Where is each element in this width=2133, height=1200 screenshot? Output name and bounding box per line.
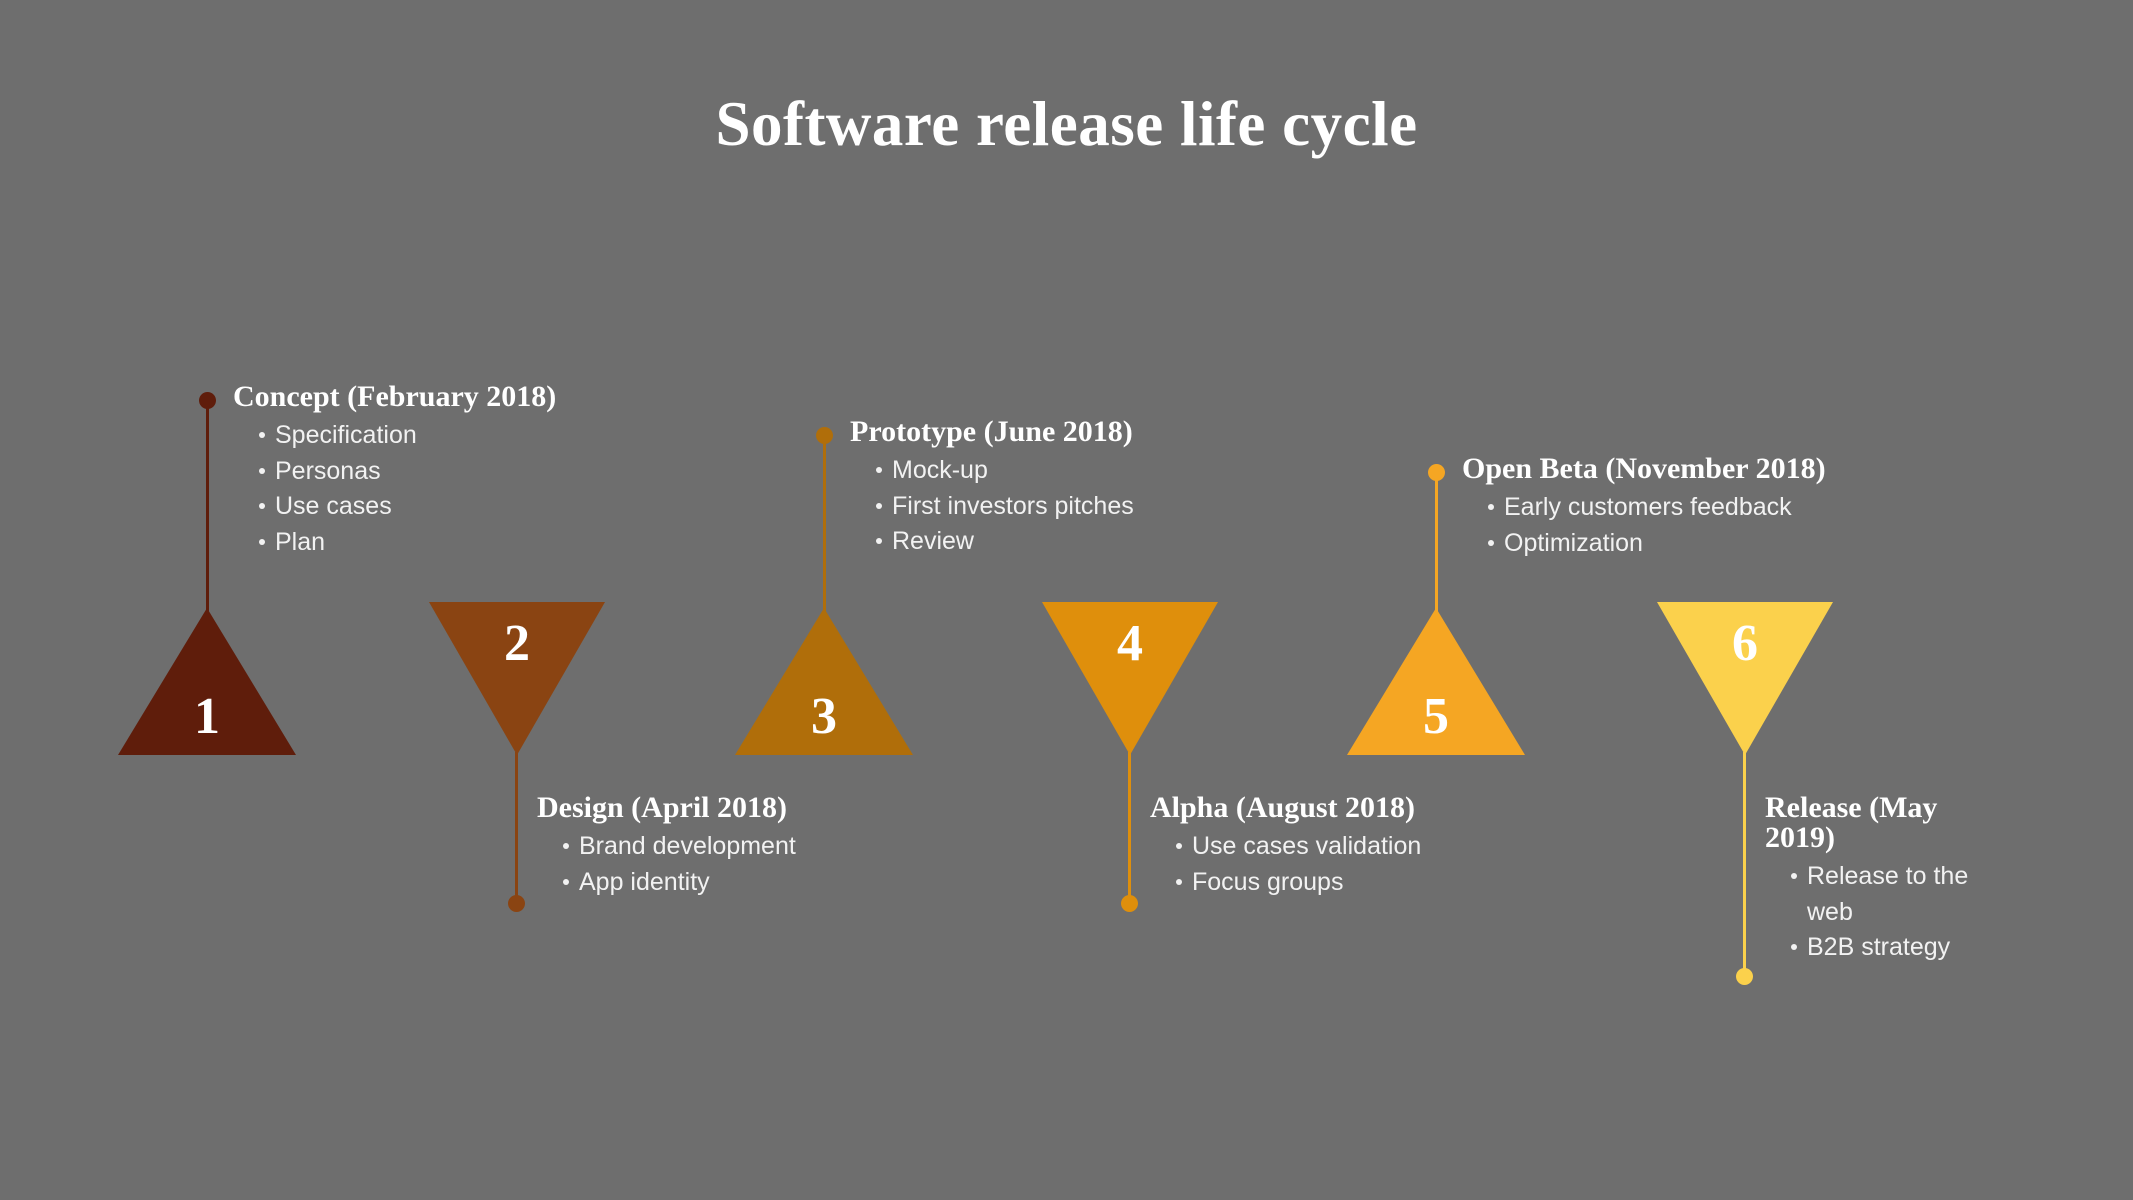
- list-item: Optimization: [1488, 526, 1902, 562]
- list-item: Specification: [259, 418, 613, 454]
- milestone-4-dot: [1121, 895, 1138, 912]
- milestone-6-label: Release (May 2019) Release to the web B2…: [1765, 793, 2000, 966]
- milestone-1-bullets: Specification Personas Use cases Plan: [233, 418, 613, 560]
- milestone-2-number: 2: [487, 614, 547, 673]
- list-item: B2B strategy: [1791, 930, 2000, 966]
- list-item: Early customers feedback: [1488, 490, 1902, 526]
- milestone-5-heading: Open Beta (November 2018): [1462, 454, 1902, 484]
- milestone-3-number: 3: [794, 687, 854, 746]
- milestone-1-heading: Concept (February 2018): [233, 382, 613, 412]
- milestone-1-label: Concept (February 2018) Specification Pe…: [233, 382, 613, 560]
- list-item: First investors pitches: [876, 489, 1250, 525]
- list-item: Plan: [259, 525, 613, 561]
- milestone-4-heading: Alpha (August 2018): [1150, 793, 1530, 823]
- list-item: Review: [876, 524, 1250, 560]
- milestone-4-number: 4: [1100, 614, 1160, 673]
- milestone-2-heading: Design (April 2018): [537, 793, 917, 823]
- milestone-5-bullets: Early customers feedback Optimization: [1462, 490, 1902, 561]
- list-item: App identity: [563, 865, 917, 901]
- milestone-4-bullets: Use cases validation Focus groups: [1150, 829, 1530, 900]
- page-title: Software release life cycle: [0, 88, 2133, 161]
- milestone-6: 6 Release (May 2019) Release to the web …: [0, 0, 2133, 1200]
- milestone-2-dot: [508, 895, 525, 912]
- milestone-4-stem: [1128, 752, 1131, 902]
- milestone-1-number: 1: [177, 687, 237, 746]
- milestone-2: 2 Design (April 2018) Brand development …: [0, 0, 2133, 1200]
- milestone-2-bullets: Brand development App identity: [537, 829, 917, 900]
- milestone-3-bullets: Mock-up First investors pitches Review: [850, 453, 1250, 560]
- milestone-3-label: Prototype (June 2018) Mock-up First inve…: [850, 417, 1250, 560]
- milestone-3-heading: Prototype (June 2018): [850, 417, 1250, 447]
- milestone-5-stem: [1435, 472, 1438, 612]
- milestone-5-number: 5: [1406, 687, 1466, 746]
- milestone-6-bullets: Release to the web B2B strategy: [1765, 859, 2000, 966]
- list-item: Use cases: [259, 489, 613, 525]
- list-item: Personas: [259, 454, 613, 490]
- list-item: Brand development: [563, 829, 917, 865]
- milestone-5-label: Open Beta (November 2018) Early customer…: [1462, 454, 1902, 561]
- list-item: Focus groups: [1176, 865, 1530, 901]
- milestone-6-heading: Release (May 2019): [1765, 793, 2000, 853]
- milestone-4: 4 Alpha (August 2018) Use cases validati…: [0, 0, 2133, 1200]
- milestone-2-stem: [515, 752, 518, 902]
- list-item: Release to the web: [1791, 859, 2000, 930]
- slide-canvas: Software release life cycle 1 Concept (F…: [0, 0, 2133, 1200]
- milestone-2-label: Design (April 2018) Brand development Ap…: [537, 793, 917, 900]
- milestone-1-stem: [206, 400, 209, 612]
- list-item: Mock-up: [876, 453, 1250, 489]
- milestone-3: 3 Prototype (June 2018) Mock-up First in…: [0, 0, 2133, 1200]
- milestone-1: 1 Concept (February 2018) Specification …: [0, 0, 2133, 1200]
- milestone-3-stem: [823, 435, 826, 612]
- milestone-6-number: 6: [1715, 614, 1775, 673]
- milestone-4-label: Alpha (August 2018) Use cases validation…: [1150, 793, 1530, 900]
- list-item: Use cases validation: [1176, 829, 1530, 865]
- milestone-6-dot: [1736, 968, 1753, 985]
- milestone-5: 5 Open Beta (November 2018) Early custom…: [0, 0, 2133, 1200]
- milestone-6-stem: [1743, 752, 1746, 974]
